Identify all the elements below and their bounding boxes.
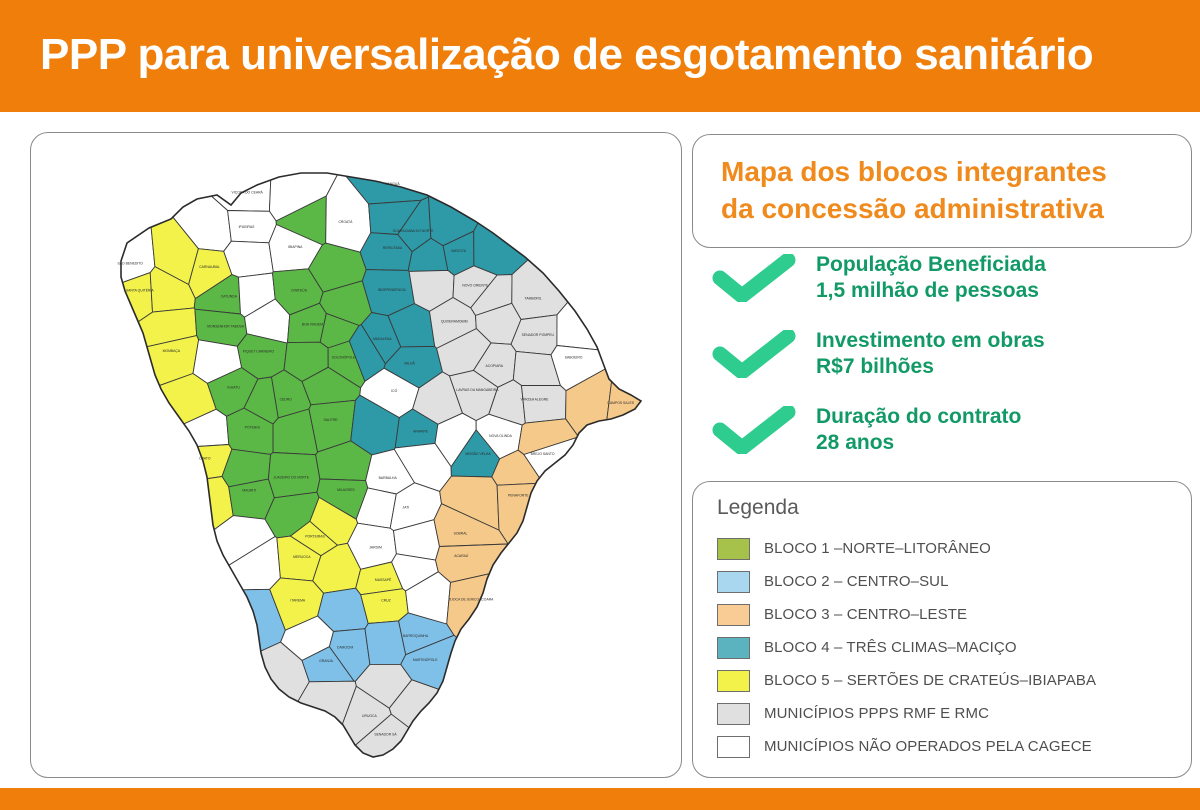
legend-swatch	[717, 571, 750, 593]
map-municipality-label: CARNAUBAL	[199, 265, 220, 269]
highlight-line1: Duração do contrato	[816, 405, 1021, 428]
legend-swatch	[717, 637, 750, 659]
legend-swatch	[717, 736, 750, 758]
map-municipality-label: MASSAPÊ	[375, 577, 392, 582]
map-municipality-label: MONSENHOR TABOSA	[207, 325, 245, 329]
legend-list: BLOCO 1 –NORTE–LITORÂNEOBLOCO 2 – CENTRO…	[717, 532, 1177, 763]
map-municipality[interactable]	[76, 589, 285, 735]
map-municipality-label: CAMPOS SALES	[607, 401, 634, 405]
map-municipality-label: MERUOCA	[293, 555, 311, 559]
map-municipality[interactable]	[497, 483, 683, 635]
title-card-line1: Mapa dos blocos integrantes	[721, 156, 1107, 187]
map-municipality-label: QUIXERAMOBIM	[441, 319, 468, 323]
map-municipality-label: SALITRE	[324, 418, 339, 422]
legend-row[interactable]: BLOCO 4 – TRÊS CLIMAS–MACIÇO	[717, 631, 1177, 664]
map-municipality-label: BARROQUINHA	[403, 634, 429, 638]
check-icon	[712, 254, 796, 302]
map-municipality-label: URUOCA	[362, 714, 377, 718]
legend-row[interactable]: MUNICÍPIOS PPPS RMF E RMC	[717, 697, 1177, 730]
map-municipality-label: SANTA QUITÉRIA	[126, 288, 155, 293]
legend-swatch	[717, 538, 750, 560]
map-municipality[interactable]	[224, 241, 274, 277]
map-municipality-label: TAMBORIL	[525, 296, 542, 300]
legend-row[interactable]: BLOCO 3 – CENTRO–LESTE	[717, 598, 1177, 631]
highlight-text: Duração do contrato 28 anos	[816, 404, 1196, 455]
legend-row[interactable]: MUNICÍPIOS NÃO OPERADOS PELA CAGECE	[717, 730, 1177, 763]
map-municipality-label: VÁRZEA ALEGRE	[521, 397, 550, 401]
map-municipality-label: SOBRAL	[454, 531, 468, 535]
map-municipality-label: CAMOCIM	[337, 645, 354, 649]
map-municipality-label: MADALENA	[373, 337, 392, 341]
highlight-item: Investimento em obras R$7 bilhões	[692, 328, 1192, 390]
map-municipality-label: ACARAÚ	[454, 553, 469, 558]
map-municipality[interactable]	[76, 273, 153, 364]
legend-label: BLOCO 4 – TRÊS CLIMAS–MACIÇO	[764, 639, 1017, 656]
map-municipality-label: PIQUET CARNEIRO	[243, 350, 275, 354]
map-municipality-label: SABOEIRO	[565, 356, 583, 360]
highlight-text: População Beneficiada 1,5 milhão de pess…	[816, 252, 1196, 303]
map-municipality-label: CRUZ	[381, 598, 390, 602]
map-municipality-label: CROATÁ	[338, 220, 353, 224]
map-municipality-label: MOMBAÇA	[163, 349, 181, 353]
highlight-line2: 28 anos	[816, 430, 1196, 456]
map-municipality[interactable]	[512, 133, 683, 320]
legend-row[interactable]: BLOCO 5 – SERTÕES DE CRATEÚS–IBIAPABA	[717, 664, 1177, 697]
map-municipality-label: JUAZEIRO DO NORTE	[273, 476, 309, 480]
map-municipality-label: JIJOCA DE JERICOACOARA	[449, 598, 495, 602]
map-municipality-label: MILAGRES	[337, 488, 355, 492]
highlight-text: Investimento em obras R$7 bilhões	[816, 328, 1196, 379]
legend-row[interactable]: BLOCO 1 –NORTE–LITORÂNEO	[717, 532, 1177, 565]
map-municipality-label: CEDRO	[280, 398, 293, 402]
map-municipality-label: ACOPIARA	[486, 364, 504, 368]
map-municipality[interactable]	[76, 642, 309, 779]
map-municipality-label: MILHÃ	[404, 361, 415, 366]
title-card-line2: da concessão administrativa	[721, 193, 1104, 224]
map-municipality-label: IGUATU	[227, 386, 240, 390]
map-municipality-label: IBIAPINA	[288, 245, 303, 249]
infographic-root: PPP para universalização de esgotamento …	[0, 0, 1200, 810]
legend-swatch	[717, 670, 750, 692]
legend-swatch	[717, 604, 750, 626]
map-municipality-label: IPUEIRAS	[239, 225, 256, 229]
map-municipality-label: SENADOR POMPEU	[522, 333, 555, 337]
highlight-item: Duração do contrato 28 anos	[692, 404, 1192, 466]
map-municipality-label: POTENGI	[245, 426, 260, 430]
map-municipality-label: MAURITI	[242, 489, 256, 493]
legend-label: MUNICÍPIOS NÃO OPERADOS PELA CAGECE	[764, 738, 1092, 755]
map-municipality-label: BREJO SANTO	[531, 452, 555, 456]
map-municipality-label: VARJOTA	[451, 249, 467, 253]
map-municipality-label: MARTINÓPOLE	[413, 657, 438, 662]
page-title: PPP para universalização de esgotamento …	[40, 30, 1093, 80]
legend-label: BLOCO 2 – CENTRO–SUL	[764, 573, 949, 590]
map-municipality-label: JARDIM	[369, 546, 382, 550]
map-municipality-label: NOVO ORIENTE	[462, 284, 489, 288]
map-municipality-label: BOA VIAGEM	[302, 323, 323, 327]
map-card: VIÇOSA DO CEARÁTIANGUÁIPUEIRASCROATÁGUAR…	[30, 132, 682, 778]
legend-label: MUNICÍPIOS PPPS RMF E RMC	[764, 705, 989, 722]
legend-title: Legenda	[717, 496, 799, 520]
map-municipality-label: PORTEIRAS	[305, 534, 325, 538]
map-municipality-label: GRANJA	[319, 659, 333, 663]
map-municipality[interactable]	[389, 680, 683, 779]
map-municipality-label: MISSÃO VELHA	[465, 451, 491, 456]
mapa-do-ceara[interactable]: VIÇOSA DO CEARÁTIANGUÁIPUEIRASCROATÁGUAR…	[31, 133, 683, 779]
highlight-line2: R$7 bilhões	[816, 354, 1196, 380]
legend-label: BLOCO 1 –NORTE–LITORÂNEO	[764, 540, 991, 557]
map-municipality[interactable]	[76, 133, 155, 299]
footer-band	[0, 788, 1200, 810]
map-municipality-label: LAVRAS DA MANGABEIRA	[456, 388, 499, 392]
map-municipality-label: SOLONÓPOLE	[332, 355, 356, 360]
title-card-text: Mapa dos blocos integrantes da concessão…	[721, 153, 1171, 227]
map-municipality[interactable]	[124, 409, 229, 451]
map-municipality-label: ITAREMA	[290, 599, 306, 603]
highlights-list: População Beneficiada 1,5 milhão de pess…	[692, 252, 1192, 470]
legend-label: BLOCO 3 – CENTRO–LESTE	[764, 606, 967, 623]
map-municipality-label: CATUNDA	[221, 295, 238, 299]
map-municipality-label: CRATEÚS	[291, 287, 308, 292]
legend-card: Legenda BLOCO 1 –NORTE–LITORÂNEOBLOCO 2 …	[692, 481, 1192, 778]
map-municipality-label: INDEPENDÊNCIA	[378, 287, 407, 292]
check-icon	[712, 406, 796, 454]
highlight-line2: 1,5 milhão de pessoas	[816, 278, 1196, 304]
highlight-line1: População Beneficiada	[816, 253, 1046, 276]
map-municipality-label: ARARIPE	[413, 430, 429, 434]
map-municipality-label: SENADOR SÁ	[374, 733, 397, 737]
map-municipality-label: BARBALHA	[379, 476, 398, 480]
map-municipality-label: PENAFORTE	[508, 494, 529, 498]
legend-label: BLOCO 5 – SERTÕES DE CRATEÚS–IBIAPABA	[764, 672, 1096, 689]
map-municipality[interactable]	[474, 133, 668, 275]
map-municipality[interactable]	[522, 386, 567, 424]
check-icon	[712, 330, 796, 378]
map-municipality-label: VIÇOSA DO CEARÁ	[232, 191, 264, 195]
map-municipality-label: JATI	[403, 506, 410, 510]
map-municipality-label: GUARACIABA DO NORTE	[393, 229, 435, 233]
highlight-line1: Investimento em obras	[816, 329, 1045, 352]
legend-swatch	[717, 703, 750, 725]
map-municipality[interactable]	[602, 313, 683, 580]
map-municipality-label: NOVA OLINDA	[489, 434, 512, 438]
title-card: Mapa dos blocos integrantes da concessão…	[692, 134, 1192, 248]
map-municipality-label: ICÓ	[391, 388, 397, 393]
legend-row[interactable]: BLOCO 2 – CENTRO–SUL	[717, 565, 1177, 598]
highlight-item: População Beneficiada 1,5 milhão de pess…	[692, 252, 1192, 314]
map-municipality-label: RERIUTABA	[383, 246, 403, 250]
map-municipality[interactable]	[557, 164, 683, 352]
